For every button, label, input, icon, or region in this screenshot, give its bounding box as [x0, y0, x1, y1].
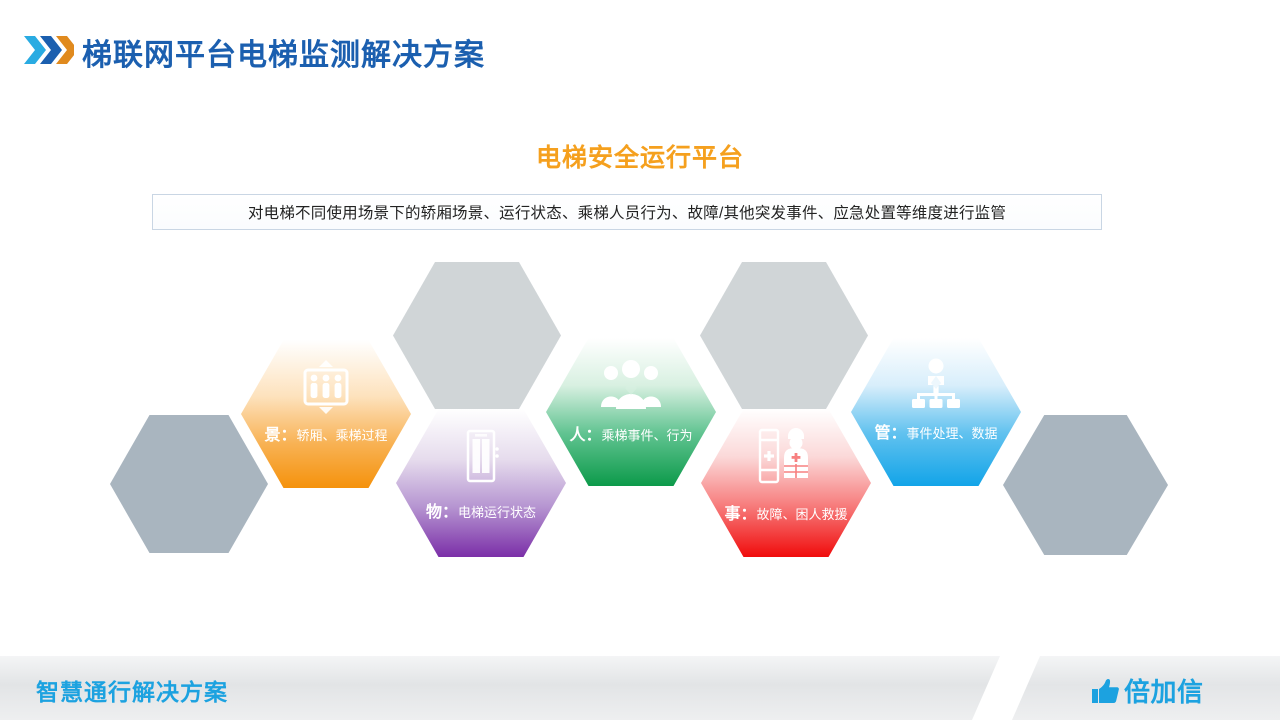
elevator-car-people-icon [241, 358, 411, 416]
hexagon-scene-description: 轿厢、乘梯过程 [297, 428, 388, 443]
hexagon-manage-description: 事件处理、数据 [907, 426, 998, 441]
decorative-hexagon-top-1 [393, 262, 561, 409]
hexagon-people-separator: ： [585, 427, 601, 444]
hexagon-scene-label: 景：轿厢、乘梯过程 [249, 426, 403, 445]
footer-text: 智慧通行解决方案 [36, 673, 228, 707]
thumbs-up-icon [1090, 677, 1120, 705]
hexagon-object-description: 电梯运行状态 [458, 505, 536, 520]
hexagon-object[interactable]: 物：电梯运行状态 [396, 409, 566, 557]
hexagon-people-key: 人 [569, 427, 585, 444]
hexagon-event-key: 事 [724, 506, 740, 523]
hexagon-manage-label: 管：事件处理、数据 [859, 424, 1013, 443]
decorative-hexagon-right [1003, 415, 1168, 555]
subtitle-box: 对电梯不同使用场景下的轿厢场景、运行状态、乘梯人员行为、故障/其他突发事件、应急… [152, 194, 1102, 230]
decorative-hexagon-top-2 [700, 262, 868, 409]
hexagon-event[interactable]: 事：故障、困人救援 [701, 409, 871, 557]
hexagon-object-separator: ： [442, 504, 458, 521]
page-title: 梯联网平台电梯监测解决方案 [82, 30, 485, 74]
hexagon-event-description: 故障、困人救援 [757, 507, 848, 522]
slide-header: 梯联网平台电梯监测解决方案 [0, 0, 1280, 100]
hexagon-people-label: 人：乘梯事件、行为 [554, 426, 708, 445]
hexagon-object-label: 物：电梯运行状态 [404, 503, 558, 522]
triple-chevron-icon [22, 33, 74, 67]
people-group-icon [546, 358, 716, 414]
rescue-stretcher-medic-icon [701, 425, 871, 487]
brand-logo: 倍加信 [1090, 672, 1204, 709]
hexagon-people[interactable]: 人：乘梯事件、行为 [546, 338, 716, 486]
elevator-doors-icon [396, 427, 566, 485]
brand-name: 倍加信 [1124, 672, 1204, 709]
hexagon-event-separator: ： [740, 506, 756, 523]
hexagon-people-description: 乘梯事件、行为 [602, 428, 693, 443]
hexagon-manage-separator: ： [890, 425, 906, 442]
org-hierarchy-icon [851, 356, 1021, 414]
hexagon-object-key: 物 [426, 504, 442, 521]
hexagon-manage[interactable]: 管：事件处理、数据 [851, 338, 1021, 486]
hexagon-scene-separator: ： [280, 427, 296, 444]
hexagon-scene[interactable]: 景：轿厢、乘梯过程 [241, 340, 411, 488]
hexagon-manage-key: 管 [874, 425, 890, 442]
subtitle-text: 对电梯不同使用场景下的轿厢场景、运行状态、乘梯人员行为、故障/其他突发事件、应急… [248, 201, 1006, 223]
platform-title: 电梯安全运行平台 [0, 138, 1280, 174]
hexagon-diagram: 景：轿厢、乘梯过程 物：电梯运行状态 [0, 250, 1280, 590]
hexagon-scene-key: 景 [264, 427, 280, 444]
slide-footer: 智慧通行解决方案 倍加信 [0, 656, 1280, 720]
decorative-hexagon-left [110, 415, 268, 553]
hexagon-event-label: 事：故障、困人救援 [709, 505, 863, 524]
